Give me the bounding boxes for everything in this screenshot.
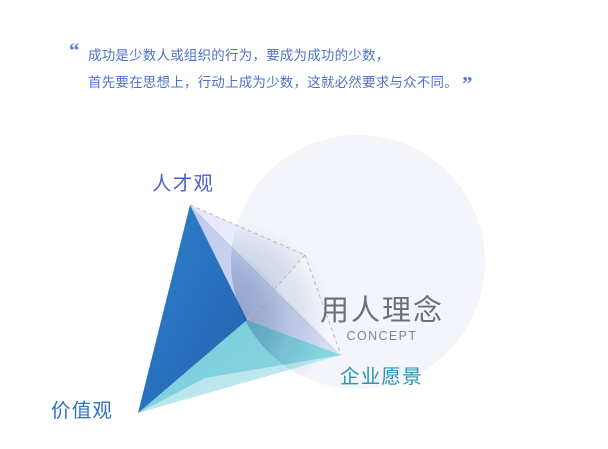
vertex-label-talent: 人才观 [152,167,214,196]
quote-block: “ 成功是少数人或组织的行为，要成为成功的少数， 首先要在思想上，行动上成为少数… [62,34,492,102]
open-quote-icon: “ [69,40,80,61]
close-quote-icon: ” [462,74,473,95]
quote-line-1: 成功是少数人或组织的行为，要成为成功的少数， [88,44,389,64]
slide-canvas: “ 成功是少数人或组织的行为，要成为成功的少数， 首先要在思想上，行动上成为少数… [0,0,608,449]
vertex-label-values: 价值观 [51,394,113,423]
quote-line-2: 首先要在思想上，行动上成为少数，这就必然要求与众不同。 [88,71,458,91]
vertex-label-vision: 企业愿景 [340,360,423,389]
